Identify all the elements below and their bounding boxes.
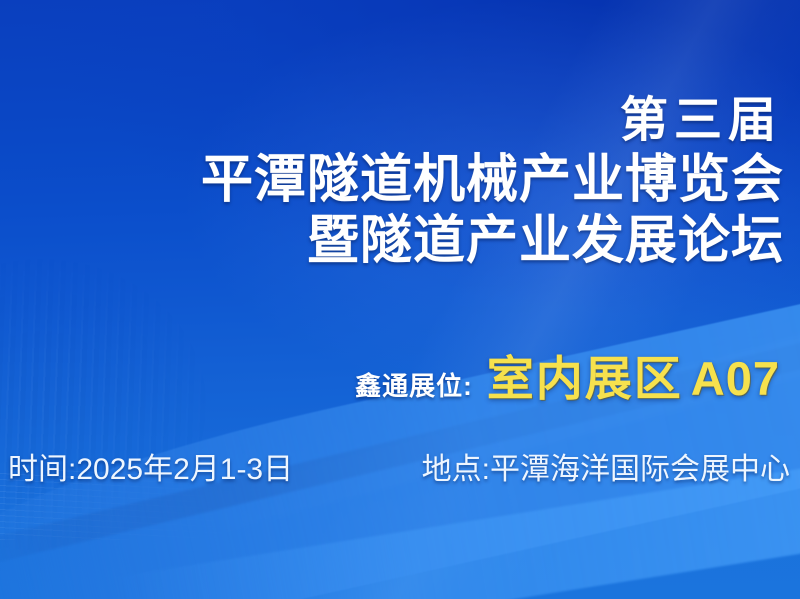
booth-code: A07: [683, 352, 780, 405]
event-banner-poster: 第三届 平潭隧道机械产业博览会 暨隧道产业发展论坛 鑫通展位: 室内展区A07 …: [0, 0, 800, 599]
event-location: 地点:平潭海洋国际会展中心: [422, 444, 790, 488]
booth-info-row: 鑫通展位: 室内展区A07: [355, 340, 780, 409]
booth-value: 室内展区A07: [487, 340, 780, 409]
booth-label: 鑫通展位:: [355, 366, 473, 403]
event-meta-row: 时间:2025年2月1-3日 地点:平潭海洋国际会展中心: [8, 444, 790, 488]
headline-forum-title: 暨隧道产业发展论坛: [24, 214, 784, 269]
event-date: 时间:2025年2月1-3日: [8, 444, 293, 488]
booth-area: 室内展区: [487, 352, 683, 405]
poster-content: 第三届 平潭隧道机械产业博览会 暨隧道产业发展论坛 鑫通展位: 室内展区A07 …: [0, 0, 800, 599]
headline-block: 第三届 平潭隧道机械产业博览会 暨隧道产业发展论坛: [24, 96, 784, 269]
headline-event-title: 平潭隧道机械产业博览会: [24, 153, 784, 208]
headline-edition: 第三届: [24, 96, 784, 147]
